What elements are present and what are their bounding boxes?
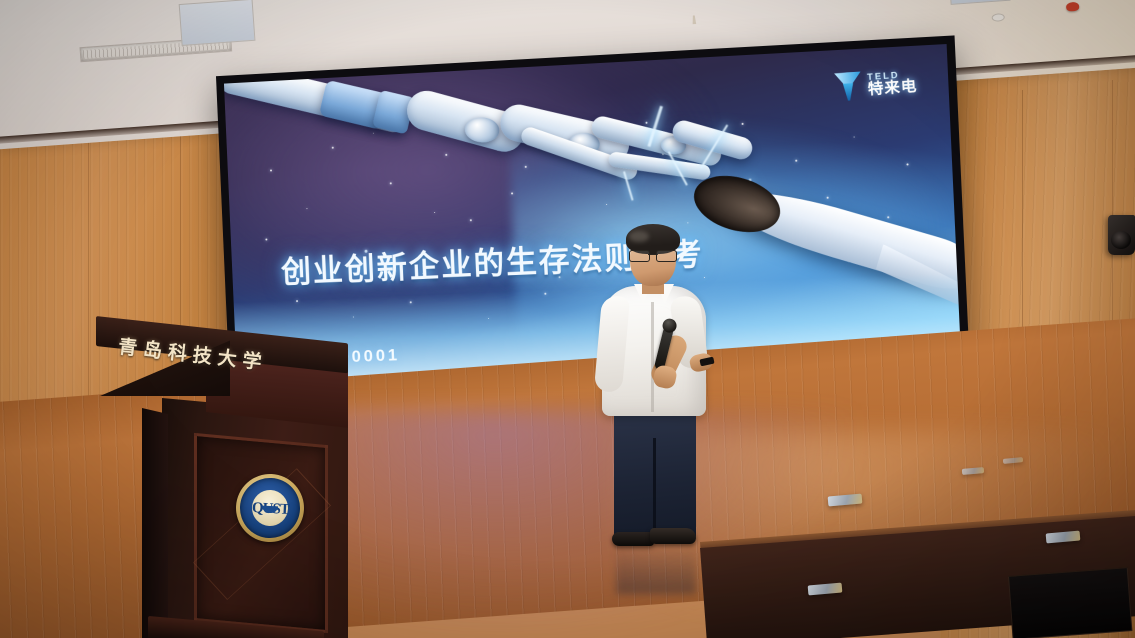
- emblem-inner-disc: QUST: [251, 489, 289, 527]
- teld-bolt-icon: [833, 72, 861, 102]
- eyeglasses-icon: [629, 250, 677, 260]
- shoe-left: [612, 532, 654, 546]
- trouser-seam: [653, 438, 656, 538]
- lecture-hall-photo: TELD 特来电 创业创新企业的生存法则思考 一股 300001 .......…: [0, 0, 1135, 638]
- presentation-clicker-icon: [699, 357, 714, 367]
- stage-front-vent: [1008, 567, 1132, 638]
- ceiling-speaker-panel: [179, 0, 256, 46]
- emblem-outer-ring: QUST: [238, 476, 301, 539]
- shirt-placket: [651, 302, 654, 412]
- speaker-person: [596, 226, 716, 562]
- wall-mounted-speaker: [1108, 215, 1135, 255]
- fire-alarm-icon: [1066, 2, 1080, 12]
- podium-side: [142, 408, 168, 638]
- teld-logo-chinese: 特来电: [867, 79, 917, 98]
- floor-reflection: [616, 544, 696, 594]
- shoe-right: [650, 528, 696, 544]
